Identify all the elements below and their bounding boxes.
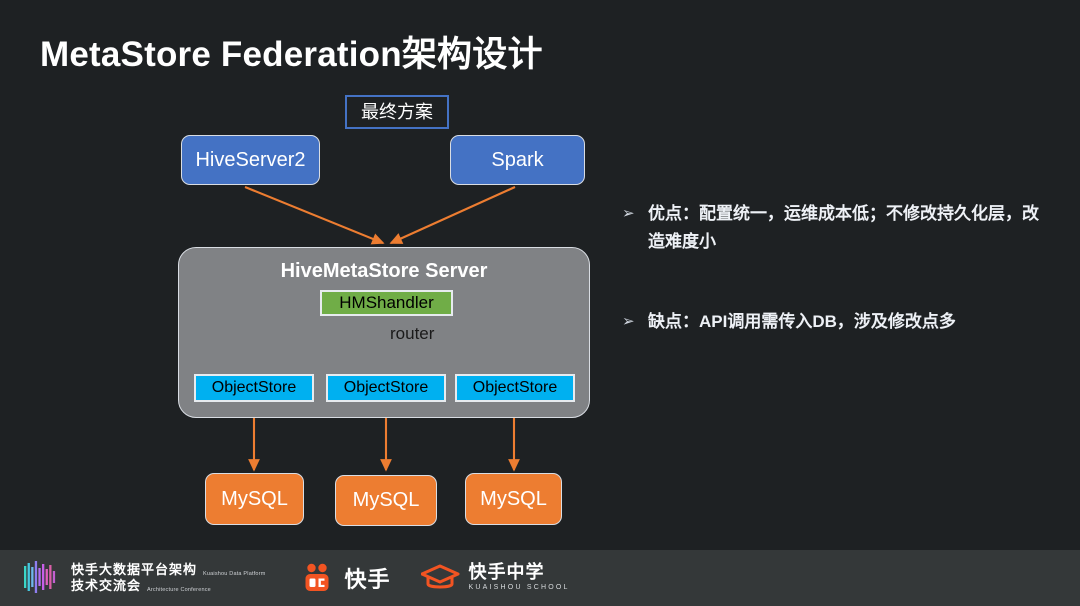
note-text-disadvantages: 缺点：API调用需传入DB，涉及修改点多 — [648, 308, 1042, 336]
list-item: ➢ 优点：配置统一，运维成本低；不修改持久化层，改造难度小 — [622, 200, 1042, 256]
final-solution-tag: 最终方案 — [345, 95, 449, 129]
kuaishou-camera-icon — [304, 563, 338, 593]
graduation-cap-icon — [421, 563, 461, 593]
node-mysql-1[interactable]: MySQL — [205, 473, 304, 525]
list-item: ➢ 缺点：API调用需传入DB，涉及修改点多 — [622, 308, 1042, 336]
node-objectstore-3[interactable]: ObjectStore — [455, 374, 575, 402]
conference-logo-text: 快手大数据平台架构 Kuaishou Data Platform 技术交流会 A… — [71, 562, 266, 595]
school-name-en: KUAISHOU SCHOOL — [469, 583, 570, 593]
edge-hiveserver2-to-server — [245, 187, 383, 243]
kuaishou-wordmark: 快手 — [345, 562, 391, 594]
node-objectstore-2[interactable]: ObjectStore — [326, 374, 446, 402]
slide-root: MetaStore Federation架构设计 最终方案 HiveSer — [0, 0, 1080, 606]
arrow-bullet-icon: ➢ — [622, 200, 648, 228]
node-hmshandler[interactable]: HMShandler — [320, 290, 453, 316]
conference-line-2: 技术交流会 Architecture Conference — [71, 578, 266, 594]
school-logo-text: 快手中学 KUAISHOU SCHOOL — [469, 563, 570, 593]
school-name-cn: 快手中学 — [469, 563, 570, 583]
node-mysql-2[interactable]: MySQL — [335, 475, 437, 526]
conference-line-1: 快手大数据平台架构 Kuaishou Data Platform — [71, 562, 266, 578]
edge-spark-to-server — [391, 187, 515, 243]
node-hiveserver2[interactable]: HiveServer2 — [181, 135, 320, 185]
page-title: MetaStore Federation架构设计 — [40, 26, 543, 77]
arrow-bullet-icon: ➢ — [622, 308, 648, 336]
conference-logo: 快手大数据平台架构 Kuaishou Data Platform 技术交流会 A… — [22, 559, 266, 597]
server-panel-title: HiveMetaStore Server — [179, 260, 589, 283]
conference-line-1-cn: 快手大数据平台架构 — [71, 562, 197, 578]
conference-line-2-en: Architecture Conference — [147, 586, 211, 594]
conference-line-1-en: Kuaishou Data Platform — [203, 570, 266, 578]
conference-mark-icon — [22, 559, 62, 597]
notes-list: ➢ 优点：配置统一，运维成本低；不修改持久化层，改造难度小 ➢ 缺点：API调用… — [622, 200, 1042, 336]
node-spark[interactable]: Spark — [450, 135, 585, 185]
footer-bar: 快手大数据平台架构 Kuaishou Data Platform 技术交流会 A… — [0, 550, 1080, 606]
kuaishou-school-logo: 快手中学 KUAISHOU SCHOOL — [421, 563, 570, 593]
kuaishou-logo: 快手 — [304, 562, 391, 594]
router-label: router — [390, 324, 434, 344]
node-objectstore-1[interactable]: ObjectStore — [194, 374, 314, 402]
conference-line-2-cn: 技术交流会 — [71, 578, 141, 594]
note-text-advantages: 优点：配置统一，运维成本低；不修改持久化层，改造难度小 — [648, 200, 1042, 256]
node-mysql-3[interactable]: MySQL — [465, 473, 562, 525]
